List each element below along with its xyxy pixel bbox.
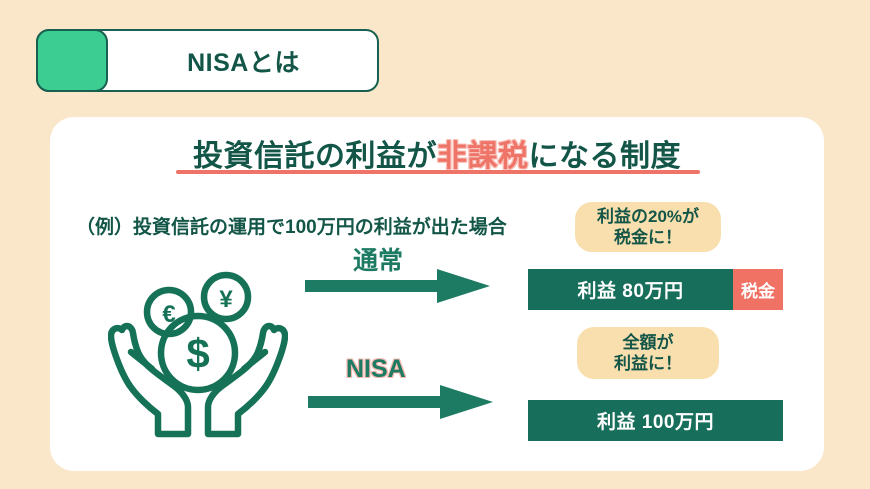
callout-tax-line1: 利益の20%が [597, 206, 699, 227]
callout-full-profit-line2: 利益に！ [614, 353, 682, 374]
coin-symbol-yen: ¥ [219, 286, 233, 313]
hands-holding-coins-icon: $ € ¥ [108, 269, 288, 444]
callout-full-profit: 全額が 利益に！ [577, 327, 719, 379]
page-title-prefix: 投資信託の利益が [193, 140, 437, 173]
result-bar-normal-profit: 利益 80万円 [528, 269, 733, 310]
coin-symbol-euro: € [162, 301, 175, 328]
result-bar-nisa: 利益 100万円 [528, 400, 783, 441]
arrow-right-icon [308, 385, 493, 424]
header-tab-accent-square [36, 29, 108, 92]
callout-tax-line2: 税金に！ [614, 227, 682, 248]
arrow-label-nisa: NISA [346, 355, 406, 384]
callout-tax: 利益の20%が 税金に！ [575, 202, 721, 252]
content-card: 投資信託の利益が非課税になる制度 （例）投資信託の運用で100万円の利益が出た場… [50, 117, 824, 471]
page-title-underline [176, 170, 700, 174]
header-tab[interactable]: NISAとは [36, 29, 379, 92]
arrow-group-nisa: NISA [308, 355, 493, 417]
arrow-right-icon [305, 269, 490, 308]
page-title-highlight: 非課税 [437, 140, 529, 173]
page-title-suffix: になる制度 [529, 140, 682, 173]
callout-full-profit-line1: 全額が [623, 332, 674, 353]
example-text: （例）投資信託の運用で100万円の利益が出た場合 [76, 212, 507, 239]
header-tab-label: NISAとは [108, 29, 379, 92]
result-bar-normal-tax: 税金 [733, 269, 783, 310]
result-bar-nisa-profit: 利益 100万円 [528, 400, 783, 441]
coin-symbol-dollar: $ [186, 330, 209, 377]
arrow-group-normal: 通常 [305, 241, 490, 301]
result-bar-normal: 利益 80万円 税金 [528, 269, 783, 310]
